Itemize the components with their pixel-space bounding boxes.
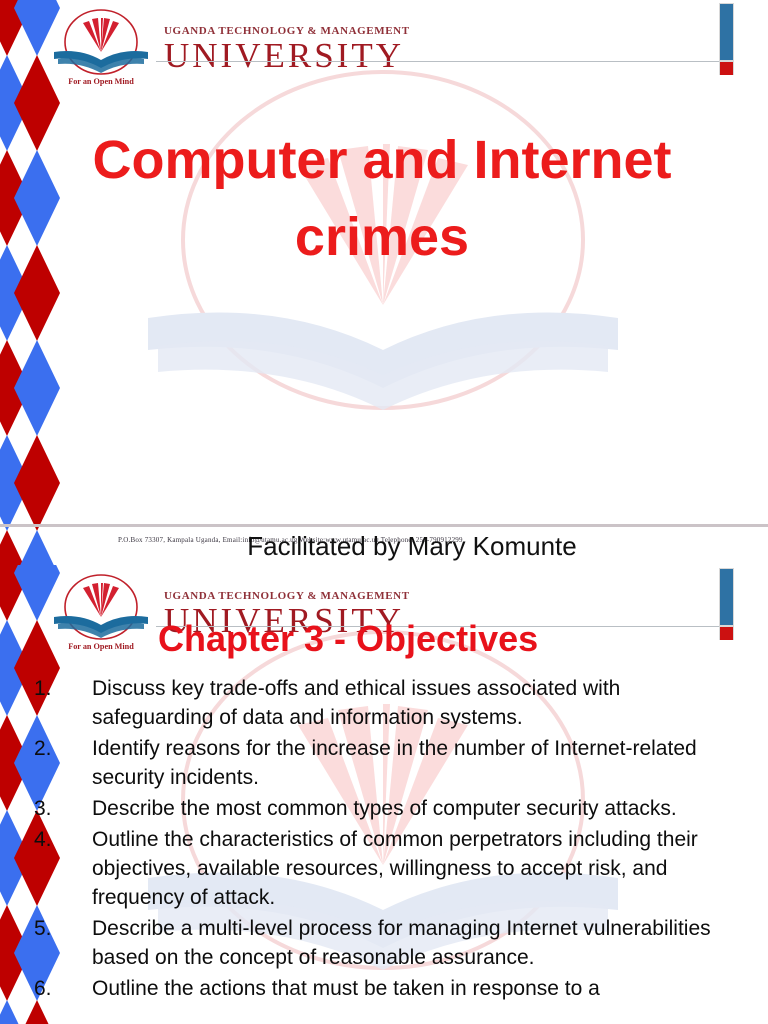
list-item: 5. Describe a multi-level process for ma… (34, 914, 746, 972)
list-item: 4. Outline the characteristics of common… (34, 825, 746, 912)
slide-title-page: For an Open Mind UGANDA TECHNOLOGY & MAN… (0, 0, 768, 565)
university-logo-icon-2: For an Open Mind (48, 573, 154, 651)
list-item-text: Describe the most common types of comput… (92, 794, 746, 823)
slide-deck-page: For an Open Mind UGANDA TECHNOLOGY & MAN… (0, 0, 768, 1024)
list-item: 3. Describe the most common types of com… (34, 794, 746, 823)
accent-bar-red-segment (719, 61, 734, 75)
footer-divider-rule (0, 524, 768, 527)
wordmark-line2: UNIVERSITY (164, 38, 410, 73)
list-item-text: Identify reasons for the increase in the… (92, 734, 746, 792)
chapter-title: Chapter 3 - Objectives (158, 618, 538, 660)
list-item: 2. Identify reasons for the increase in … (34, 734, 746, 792)
header-divider-rule (156, 61, 724, 62)
accent-bar-blue-segment-2 (719, 568, 734, 626)
presenter-credit: Facilitated by Mary Komunte (62, 531, 762, 562)
list-item-number: 5. (34, 914, 92, 943)
diamond-column-left-2 (0, 565, 30, 1024)
list-item: 1. Discuss key trade-offs and ethical is… (34, 674, 746, 732)
list-item-text: Outline the actions that must be taken i… (92, 974, 746, 1003)
university-logo-icon: For an Open Mind (48, 8, 154, 86)
list-item-text: Discuss key trade-offs and ethical issue… (92, 674, 746, 732)
list-item-number: 6. (34, 974, 92, 1003)
svg-text:For an Open Mind: For an Open Mind (68, 642, 134, 651)
list-item: 6. Outline the actions that must be take… (34, 974, 746, 1003)
list-item-number: 4. (34, 825, 92, 854)
svg-text:For an Open Mind: For an Open Mind (68, 77, 134, 86)
objectives-list: 1. Discuss key trade-offs and ethical is… (34, 674, 746, 1005)
slide-title: Computer and Internet crimes (62, 122, 702, 275)
list-item-text: Describe a multi-level process for manag… (92, 914, 746, 972)
accent-bar-blue-segment (719, 3, 734, 61)
right-accent-bar-2 (719, 568, 734, 640)
university-wordmark: UGANDA TECHNOLOGY & MANAGEMENT UNIVERSIT… (164, 26, 410, 73)
list-item-text: Outline the characteristics of common pe… (92, 825, 746, 912)
list-item-number: 3. (34, 794, 92, 823)
list-item-number: 2. (34, 734, 92, 763)
accent-bar-red-segment-2 (719, 626, 734, 640)
right-accent-bar (719, 3, 734, 75)
list-item-number: 1. (34, 674, 92, 703)
diamond-column-left (0, 0, 30, 565)
